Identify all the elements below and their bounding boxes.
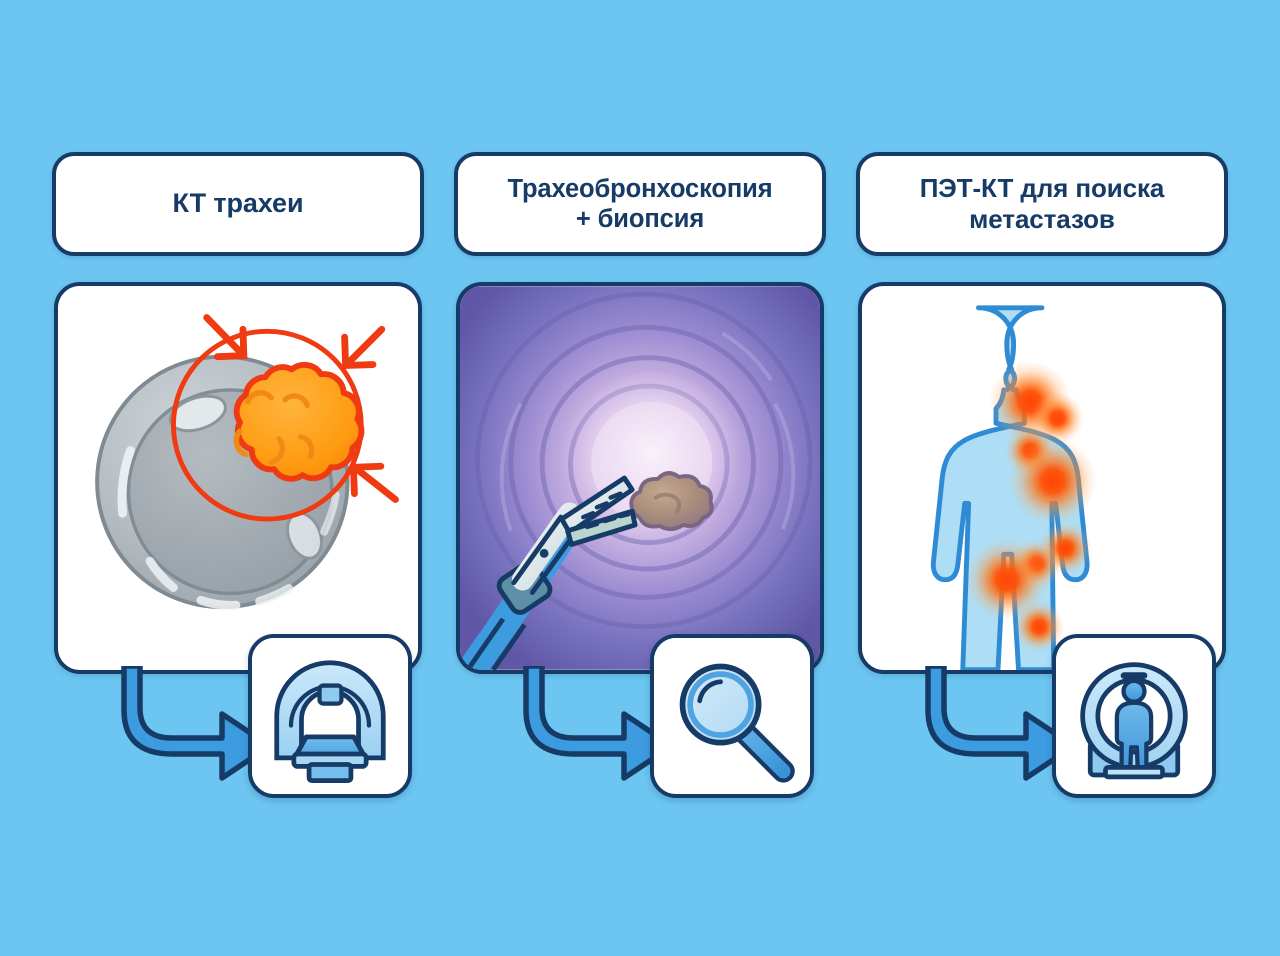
infographic-stage: КТ трахеи [0, 0, 1280, 956]
panel-metastases-body-map-illustration [858, 282, 1226, 674]
title-card-1: КТ трахеи [52, 152, 424, 256]
column-pet-ct-metastases: ПЭТ-КТ для поиска метастазов [856, 0, 1230, 956]
badge-ct-scanner[interactable] [248, 634, 412, 798]
title-text-1: КТ трахеи [161, 188, 316, 220]
tumor-mass [236, 365, 361, 479]
panel-trachea-ct-tumor-illustration [54, 282, 422, 674]
badge-pet-ct-scanner[interactable] [1052, 634, 1216, 798]
tissue-lesion [631, 473, 712, 529]
column-bronchoscopy: Трахеобронхоскопия + биопсия [454, 0, 828, 956]
title-text-3: ПЭТ-КТ для поиска метастазов [908, 173, 1177, 234]
title-card-3: ПЭТ-КТ для поиска метастазов [856, 152, 1228, 256]
title-card-2: Трахеобронхоскопия + биопсия [454, 152, 826, 256]
badge-magnifier[interactable] [650, 634, 814, 798]
pet-ct-scanner-icon [1083, 665, 1186, 777]
panel-bronchoscopy-biopsy-illustration [456, 282, 824, 674]
ct-scanner-icon [277, 663, 384, 781]
column-ct-trachea: КТ трахеи [52, 0, 426, 956]
hotspot [1009, 437, 1097, 525]
title-text-2: Трахеобронхоскопия + биопсия [495, 174, 784, 234]
